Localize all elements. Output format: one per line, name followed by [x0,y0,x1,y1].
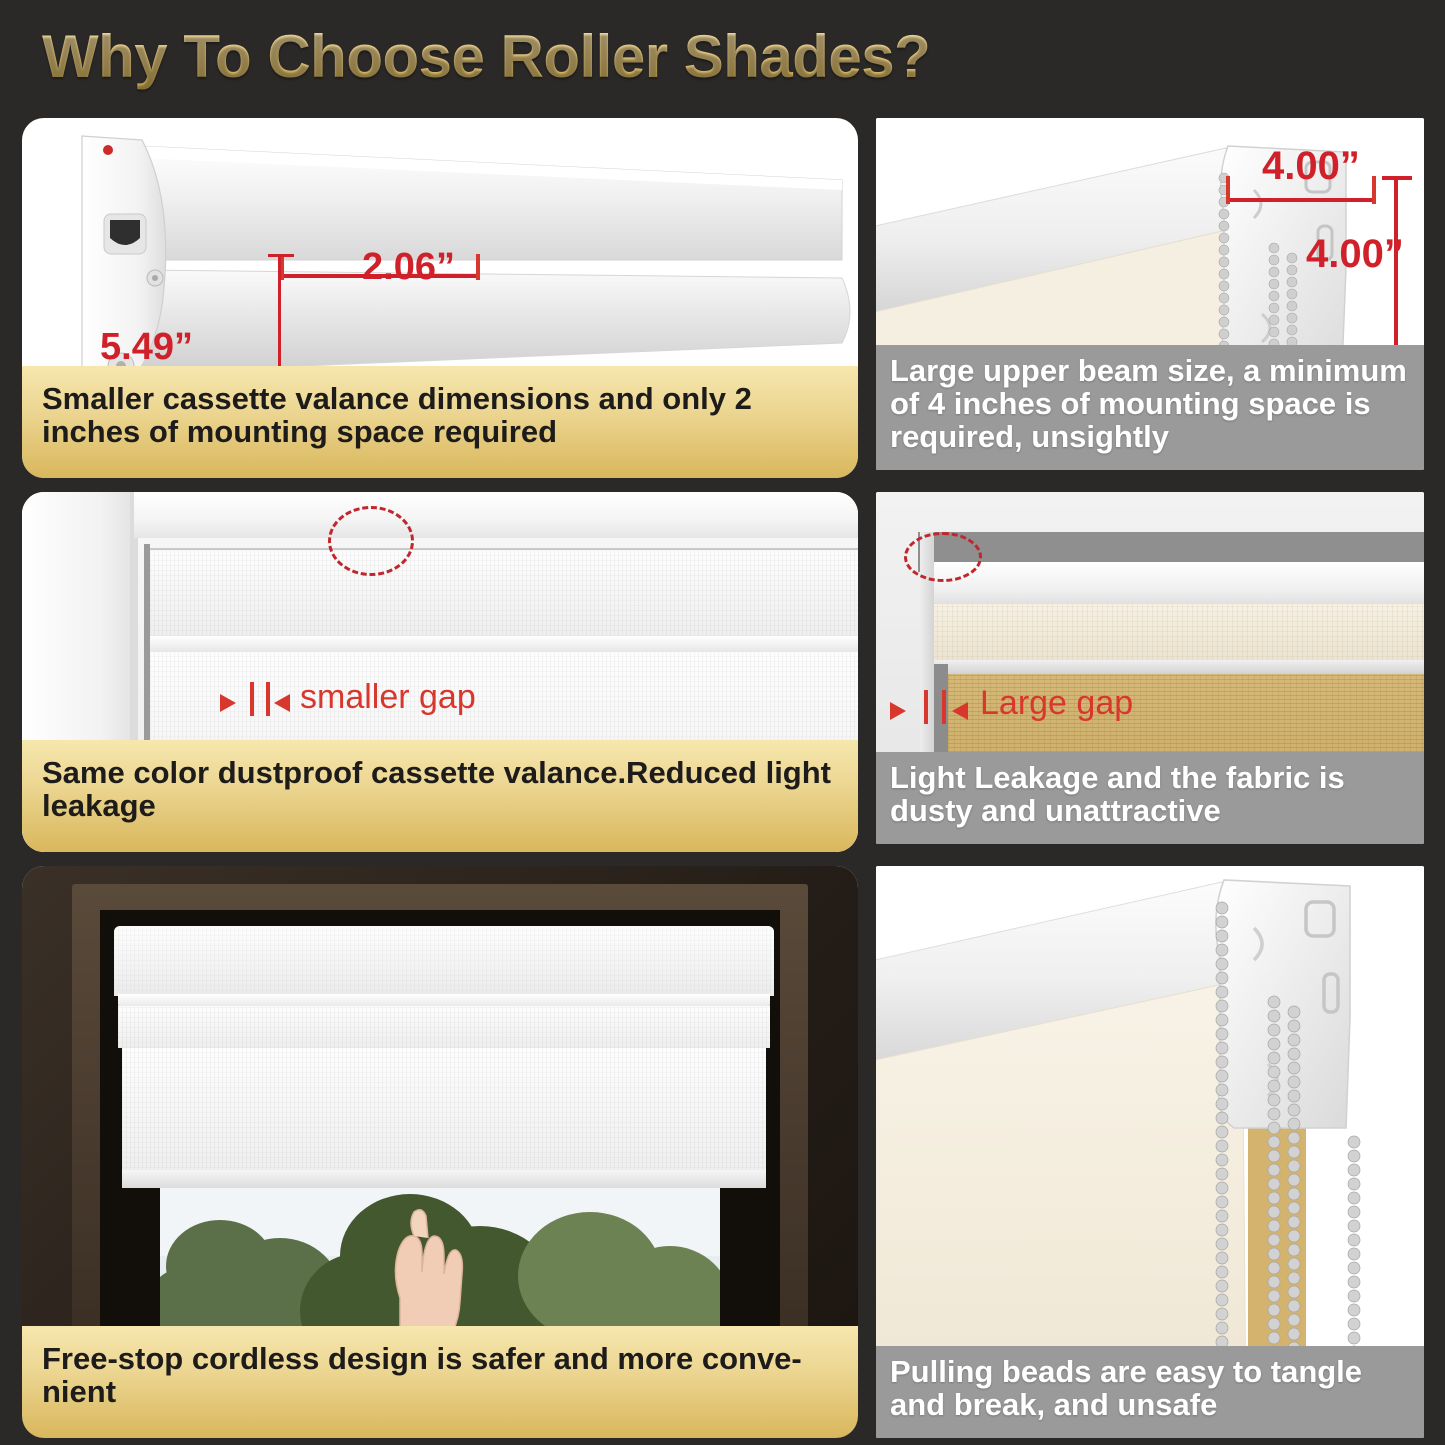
gap-highlight-ellipse [328,506,414,576]
roller-tube [920,562,1424,610]
header-bar: Why To Choose Roller Shades? [0,0,1445,112]
beam-height-dimension-label: 4.00” [1306,232,1404,277]
panel-2-caption: Large upper beam size, a minimum of 4 in… [876,345,1424,470]
panel-4-caption: Light Leakage and the fabric is dusty an… [876,752,1424,844]
height-dimension-tick-top [268,254,294,257]
gap-tick-b [942,690,946,724]
cassette-valance-lip [150,636,858,652]
panel-pulling-beads[interactable]: Pulling beads are easy to tangle and bre… [876,866,1424,1438]
panel-6-caption: Pulling beads are easy to tangle and bre… [876,1346,1424,1438]
beam-height-tick-top [1382,176,1412,180]
panel-2-caption-text: Large upper beam size, a minimum of 4 in… [890,353,1407,454]
width-dimension-tick-right [476,254,480,280]
shade-fabric-main [122,1048,766,1178]
cassette-valance-face [150,548,858,636]
panel-light-leakage[interactable]: Large gap Light Leakage and the fabric i… [876,492,1424,844]
panel-1-caption: Smaller cassette valance dimensions and … [22,366,858,478]
beam-width-tick-left [1226,176,1230,204]
gap-arrow-right [952,702,968,720]
gap-arrow-left [220,694,236,712]
panel-large-upper-beam[interactable]: 4.00” 4.00” Large upper beam size, a min… [876,118,1424,470]
panel-4-caption-text: Light Leakage and the fabric is dusty an… [890,760,1345,828]
shade-bottom-rail [122,1170,766,1188]
cassette-headrail-texture [114,926,774,996]
height-dimension-label: 5.49” [100,326,193,369]
smaller-gap-label: smaller gap [300,678,476,717]
panel-1-caption-text: Smaller cassette valance dimensions and … [42,381,752,449]
panel-6-caption-text: Pulling beads are easy to tangle and bre… [890,1354,1362,1422]
panel-5-caption-text: Free-stop cordless design is safer and m… [42,1341,802,1409]
window-top-trim [134,492,858,538]
gap-tick-b [266,682,270,716]
beam-width-dimension-line [1226,198,1376,202]
panel-smaller-cassette[interactable]: 2.06” 5.49” Smaller cassette valance dim… [22,118,858,478]
gap-tick-a [250,682,254,716]
panel-5-caption: Free-stop cordless design is safer and m… [22,1326,858,1438]
valance-front-flap [118,1006,770,1048]
beam-width-dimension-label: 4.00” [1262,144,1360,189]
comparison-grid: 2.06” 5.49” Smaller cassette valance dim… [0,112,1445,1445]
gap-arrow-right [274,694,290,712]
width-dimension-label: 2.06” [362,246,455,289]
panel-dustproof-cassette[interactable]: smaller gap Same color dustproof cassett… [22,492,858,852]
beam-width-tick-right [1372,176,1376,204]
bottom-rail [932,660,1424,674]
gap-highlight-ellipse [904,532,982,582]
gap-arrow-left [890,702,906,720]
panel-3-caption-text: Same color dustproof cassette valance.Re… [42,755,831,823]
panel-cordless-design[interactable]: Free-stop cordless design is safer and m… [22,866,858,1438]
page-title: Why To Choose Roller Shades? [42,22,930,91]
large-gap-label: Large gap [980,684,1133,723]
gap-tick-a [924,690,928,724]
panel-3-caption: Same color dustproof cassette valance.Re… [22,740,858,852]
cream-fabric-band [932,604,1424,662]
